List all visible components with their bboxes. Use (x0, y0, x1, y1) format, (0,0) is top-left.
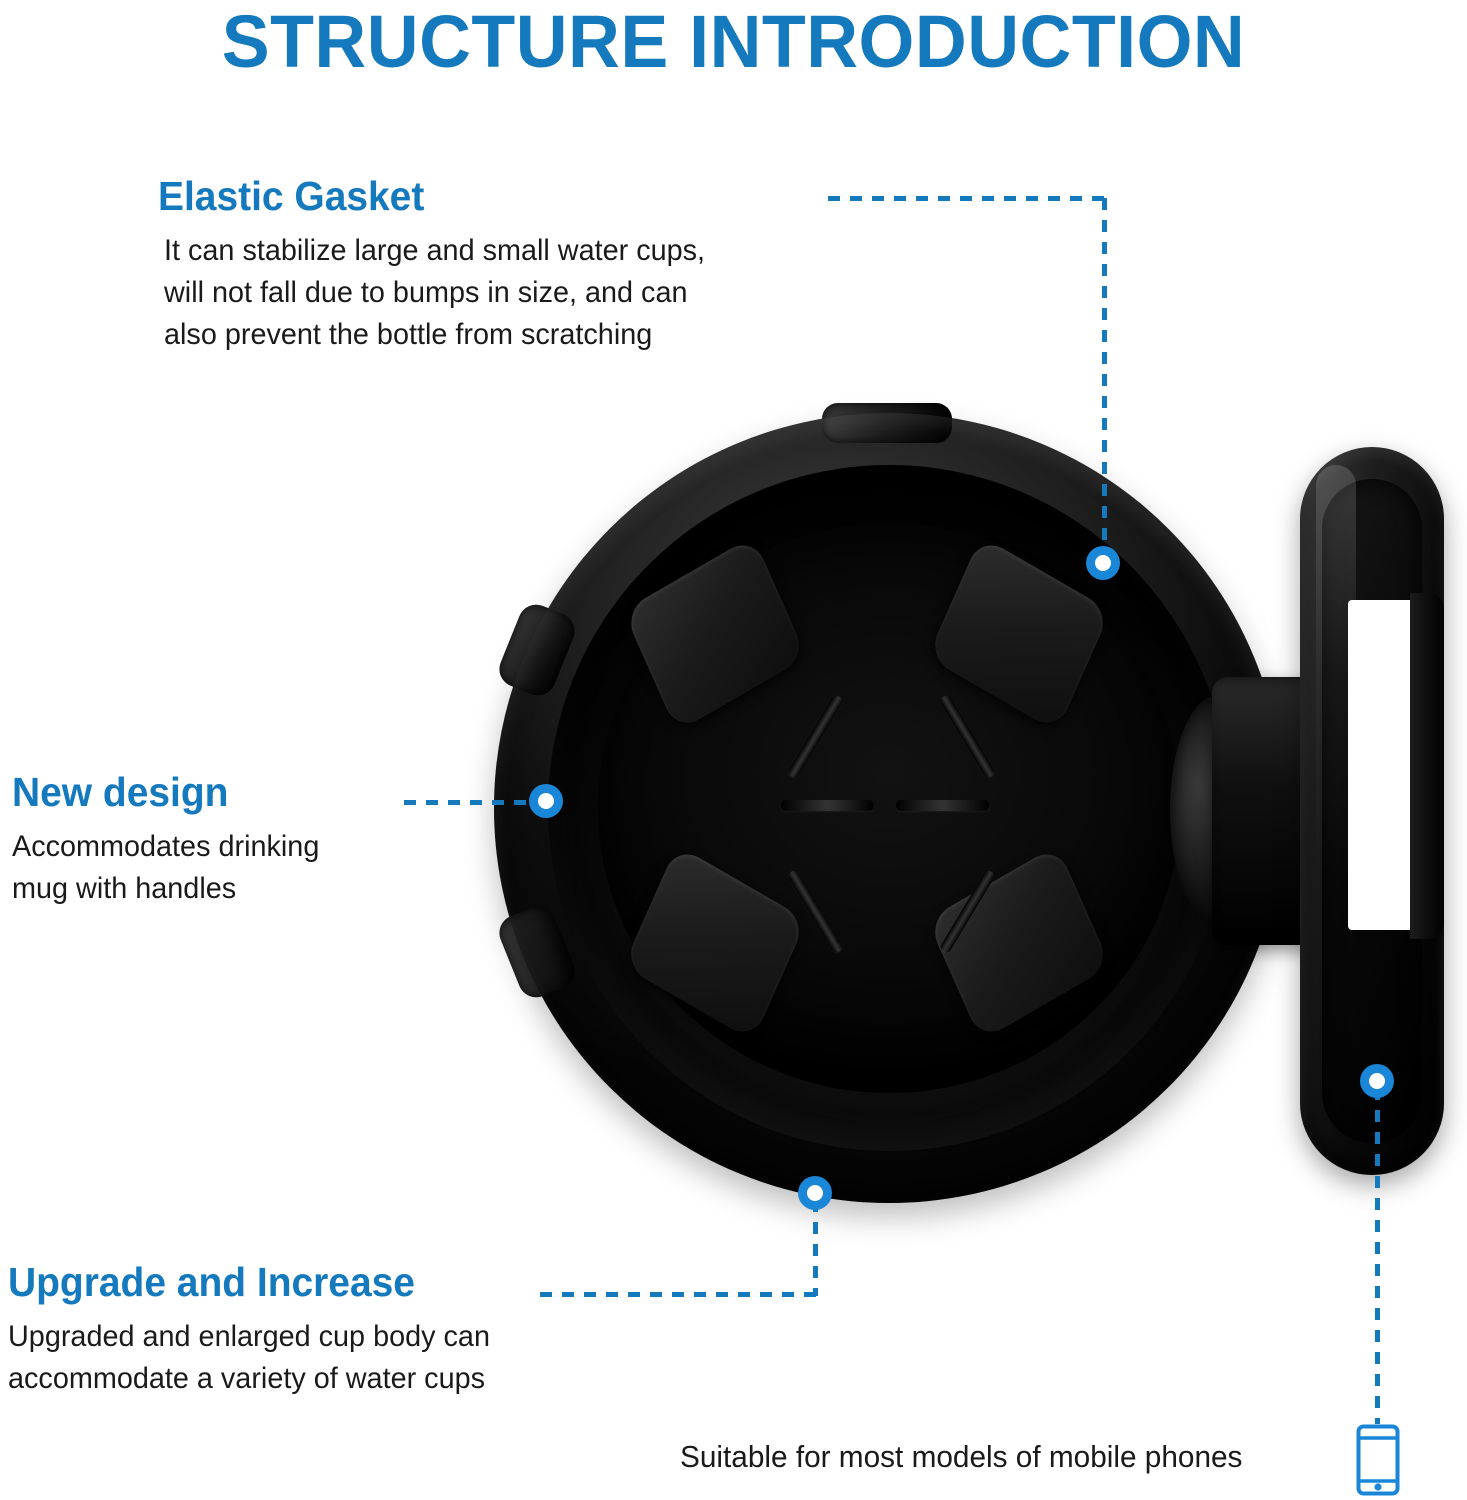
phone-clip-slot-edge (1410, 593, 1444, 939)
callout-body-upgrade-and-increase: Upgraded and enlarged cup body can accom… (8, 1316, 490, 1400)
marker-elastic-gasket[interactable] (1086, 546, 1120, 580)
leader-line-new-design (404, 800, 546, 805)
mobile-phone-icon (1356, 1424, 1400, 1496)
leader-line-gasket-vertical (1102, 198, 1107, 564)
callout-new-design: New design Accommodates drinking mug wit… (12, 768, 332, 910)
callout-body-line: will not fall due to bumps in size, and … (164, 272, 705, 314)
callout-heading-elastic-gasket: Elastic Gasket (158, 172, 699, 220)
leader-line-upgrade-vertical (813, 1200, 818, 1296)
callout-heading-upgrade-and-increase: Upgrade and Increase (8, 1258, 485, 1306)
callout-body-line: accommodate a variety of water cups (8, 1358, 490, 1400)
phone-clip-gloss (1316, 465, 1356, 1155)
marker-upgrade-and-increase[interactable] (798, 1176, 832, 1210)
marker-phone-clip[interactable] (1360, 1064, 1394, 1098)
callout-body-elastic-gasket: It can stabilize large and small water c… (164, 230, 705, 356)
callout-body-line: It can stabilize large and small water c… (164, 230, 705, 272)
center-groove-right (896, 800, 989, 811)
center-groove-left (781, 800, 874, 811)
page-title: STRUCTURE INTRODUCTION (22, 2, 1445, 82)
callout-heading-new-design: New design (12, 768, 316, 816)
callout-upgrade-and-increase: Upgrade and Increase Upgraded and enlarg… (8, 1258, 510, 1400)
callout-body-line: Upgraded and enlarged cup body can (8, 1316, 490, 1358)
callout-body-line: Accommodates drinking (12, 826, 319, 868)
footer-note: Suitable for most models of mobile phone… (680, 1437, 1242, 1477)
callout-body-line: also prevent the bottle from scratching (164, 314, 705, 356)
callout-body-new-design: Accommodates drinking mug with handles (12, 826, 319, 910)
leader-line-phone-clip (1375, 1088, 1380, 1424)
leader-line-upgrade-horizontal (540, 1292, 818, 1297)
marker-new-design[interactable] (529, 784, 563, 818)
callout-body-line: mug with handles (12, 868, 319, 910)
leader-line-gasket-horizontal (828, 196, 1108, 201)
product-illustration (470, 395, 1450, 1225)
infographic-page: STRUCTURE INTRODUCTION (0, 0, 1467, 1500)
callout-elastic-gasket: Elastic Gasket It can stabilize large an… (158, 172, 728, 356)
